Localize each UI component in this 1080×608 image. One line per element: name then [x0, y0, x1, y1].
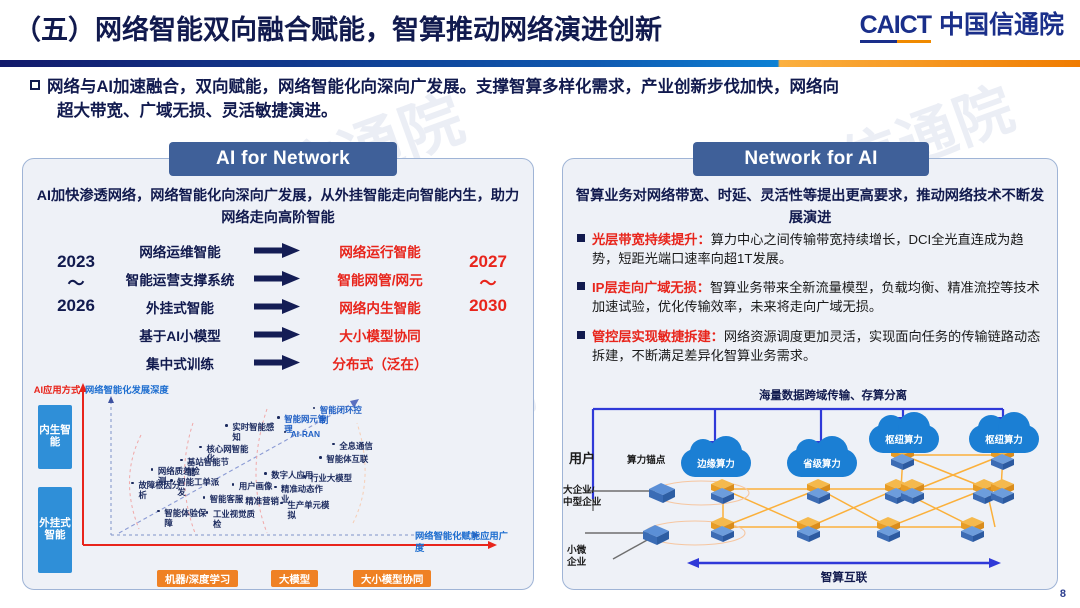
chart-point-label: 行业大模型	[310, 473, 352, 483]
panel-network-for-ai: Network for AI 智算业务对网络带宽、时延、灵活性等提出更高要求，推…	[562, 158, 1058, 590]
chart-point-label: 精准营销	[245, 496, 279, 506]
logo-caict-text: CAICT	[860, 13, 931, 38]
chart-point-label: 智能体验保障	[164, 508, 206, 528]
chart-point-label: AI-RAN	[291, 429, 320, 439]
bullet-square-icon	[577, 282, 585, 290]
cloud-edge: 边缘算力	[681, 449, 751, 477]
chart-point-marker	[274, 486, 277, 489]
chart-point-marker	[225, 424, 228, 427]
chart-point-label: 数字人应用	[271, 470, 313, 480]
router-icon	[901, 479, 924, 504]
chart-point-marker	[319, 456, 322, 459]
chart-point: 工业视觉质检	[213, 510, 261, 530]
lead-line-1: 网络与AI加速融合，双向赋能，网络智能化向深向广发展。支撑智算多样化需求，产业创…	[47, 78, 839, 96]
chart-point: 行业大模型	[310, 474, 358, 484]
chart-point-marker	[199, 446, 202, 449]
chart-point-marker	[303, 475, 306, 478]
chart-point-label: 实时智能感知	[232, 422, 274, 442]
arrow-right-icon	[245, 327, 309, 342]
roadmap-row: 基于AI小模型大小模型协同	[115, 321, 451, 348]
arrow-right-icon	[245, 271, 309, 286]
router-icon	[877, 517, 900, 542]
roadmap-row: 网络运维智能网络运行智能	[115, 237, 451, 264]
year-range-left: 2023～2026	[37, 251, 115, 316]
router-icon	[797, 517, 820, 542]
chart-axis-note: AI应用方式	[31, 385, 83, 396]
chart-point: 实时智能感知	[232, 423, 280, 443]
chart-xlabel: 网络智能化赋能应用广度	[415, 531, 511, 554]
logo-chinese-text: 中国信通院	[939, 13, 1064, 38]
router-icon	[807, 479, 830, 504]
label-small-enterprise: 小微企业	[567, 545, 607, 568]
arrow-right-icon	[245, 299, 309, 314]
cloud-province: 省级算力	[787, 449, 857, 477]
roadmap-to: 分布式（泛在）	[309, 353, 451, 373]
cloud-edge-label: 边缘算力	[697, 456, 735, 470]
header-divider	[0, 60, 1080, 67]
panel-ai-for-network: AI for Network AI加快渗透网络，网络智能化向深向广发展，从外挂智…	[22, 158, 534, 590]
router-icon	[711, 517, 734, 542]
cloud-hub-1-label: 枢纽算力	[885, 432, 923, 446]
roadmap-row: 集中式训练分布式（泛在）	[115, 349, 451, 376]
panel-left-subtitle: AI加快渗透网络，网络智能化向深向广发展，从外挂智能走向智能内生，助力网络走向高…	[35, 185, 521, 229]
bullet-square-icon	[577, 234, 585, 242]
roadmap-from: 外挂式智能	[115, 297, 245, 317]
roadmap-to: 大小模型协同	[309, 325, 451, 345]
chart-point-label: 用户画像	[239, 481, 273, 491]
label-user: 用户	[569, 451, 595, 467]
chart-point: 精准营销	[245, 497, 293, 507]
cloud-hub-2: 枢纽算力	[969, 425, 1039, 453]
chart-point-marker	[277, 416, 280, 419]
chart-point: 全息通信	[339, 442, 387, 452]
lead-bullet: 网络与AI加速融合，双向赋能，网络智能化向深向广发展。支撑智算多样化需求，产业创…	[30, 76, 1060, 124]
router-icon	[711, 479, 734, 504]
roadmap-from: 智能运营支撑系统	[115, 269, 245, 289]
chart-point-label: 生产单元模拟	[287, 500, 329, 520]
chart-point: 故障根因分析	[138, 481, 186, 501]
chart-point-label: 故障根因分析	[138, 480, 180, 500]
right-bullet-head: IP层走向广域无损：	[592, 280, 710, 295]
roadmap-from: 网络运维智能	[115, 241, 245, 261]
panel-right-subtitle: 智算业务对网络带宽、时延、灵活性等提出更高要求，推动网络技术不断发展演进	[575, 185, 1045, 229]
network-diagram-footer: 智算互联	[693, 569, 995, 585]
chart-band-outer: 外挂式智能	[38, 487, 72, 573]
right-bullet-head: 管控层实现敏捷拆建：	[592, 329, 724, 344]
chart-point-marker	[264, 472, 267, 475]
chart-point: 用户画像	[239, 482, 287, 492]
year-range-right: 2027～2030	[449, 251, 527, 316]
right-bullet-head: 光层带宽持续提升：	[592, 232, 711, 247]
page-number: 8	[1060, 588, 1066, 600]
label-compute-anchor: 算力锚点	[627, 455, 665, 467]
chart-xtick-0: 机器/深度学习	[157, 570, 238, 587]
network-diagram: 海量数据跨域传输、存算分离	[563, 387, 1059, 587]
slide-header: （五）网络智能双向融合赋能，智算推动网络演进创新 CAICT 中国信通院	[0, 0, 1080, 58]
scatter-chart: AI应用方式 网络智能化发展深度 网络智能化赋能应用广度 内生智能 外挂式智能 …	[23, 383, 535, 589]
panel-right-badge: Network for AI	[693, 142, 929, 176]
chart-point-label: 全息通信	[339, 441, 373, 451]
cloud-hub-2-label: 枢纽算力	[985, 432, 1023, 446]
cloud-hub-1: 枢纽算力	[869, 425, 939, 453]
roadmap-to: 网络运行智能	[309, 241, 451, 261]
bullet-square-icon	[577, 331, 585, 339]
roadmap-row: 智能运营支撑系统智能网管/网元	[115, 265, 451, 292]
caict-logo: CAICT 中国信通院	[860, 13, 1064, 38]
lead-line-2: 超大带宽、广域无损、灵活敏捷演进。	[57, 102, 338, 120]
router-icon	[973, 479, 996, 504]
arrow-right-icon	[245, 355, 309, 370]
panel-left-badge: AI for Network	[169, 142, 397, 176]
arrow-right-icon	[245, 243, 309, 258]
roadmap-from: 集中式训练	[115, 353, 245, 373]
label-large-enterprise: 大企业/中型企业	[563, 485, 623, 508]
right-bullet-list: 光层带宽持续提升：算力中心之间传输带宽持续增长，DCI全光直连成为趋势，短距光端…	[577, 229, 1047, 374]
chart-point-label: 智能体互联	[326, 454, 368, 464]
chart-point: 智能体互联	[326, 455, 374, 465]
chart-point: AI-RAN	[291, 430, 339, 440]
right-bullet: 光层带宽持续提升：算力中心之间传输带宽持续增长，DCI全光直连成为趋势，短距光端…	[577, 229, 1047, 268]
chart-band-inner: 内生智能	[38, 405, 72, 469]
right-bullet: 管控层实现敏捷拆建：网络资源调度更加灵活，实现面向任务的传输链路动态拆建，不断满…	[577, 326, 1047, 365]
chart-xtick-2: 大小模型协同	[353, 570, 431, 587]
chart-xtick-1: 大模型	[271, 570, 318, 587]
right-bullet: IP层走向广域无损：智算业务带来全新流量模型，负载均衡、精准流控等技术加速试验，…	[577, 277, 1047, 316]
bullet-square-icon	[30, 80, 40, 90]
roadmap-to: 智能网管/网元	[309, 269, 451, 289]
roadmap-from: 基于AI小模型	[115, 325, 245, 345]
chart-point: 生产单元模拟	[287, 501, 335, 521]
chart-ylabel: 网络智能化发展深度	[85, 385, 177, 397]
router-icon	[961, 517, 984, 542]
roadmap-to: 网络内生智能	[309, 297, 451, 317]
cloud-province-label: 省级算力	[803, 456, 841, 470]
roadmap-row: 外挂式智能网络内生智能	[115, 293, 451, 320]
router-icon	[991, 479, 1014, 504]
page-title: （五）网络智能双向融合赋能，智算推动网络演进创新	[14, 8, 662, 47]
chart-point-label: 工业视觉质检	[213, 509, 255, 529]
roadmap-block: 2023～2026 2027～2030 网络运维智能网络运行智能智能运营支撑系统…	[23, 235, 535, 385]
